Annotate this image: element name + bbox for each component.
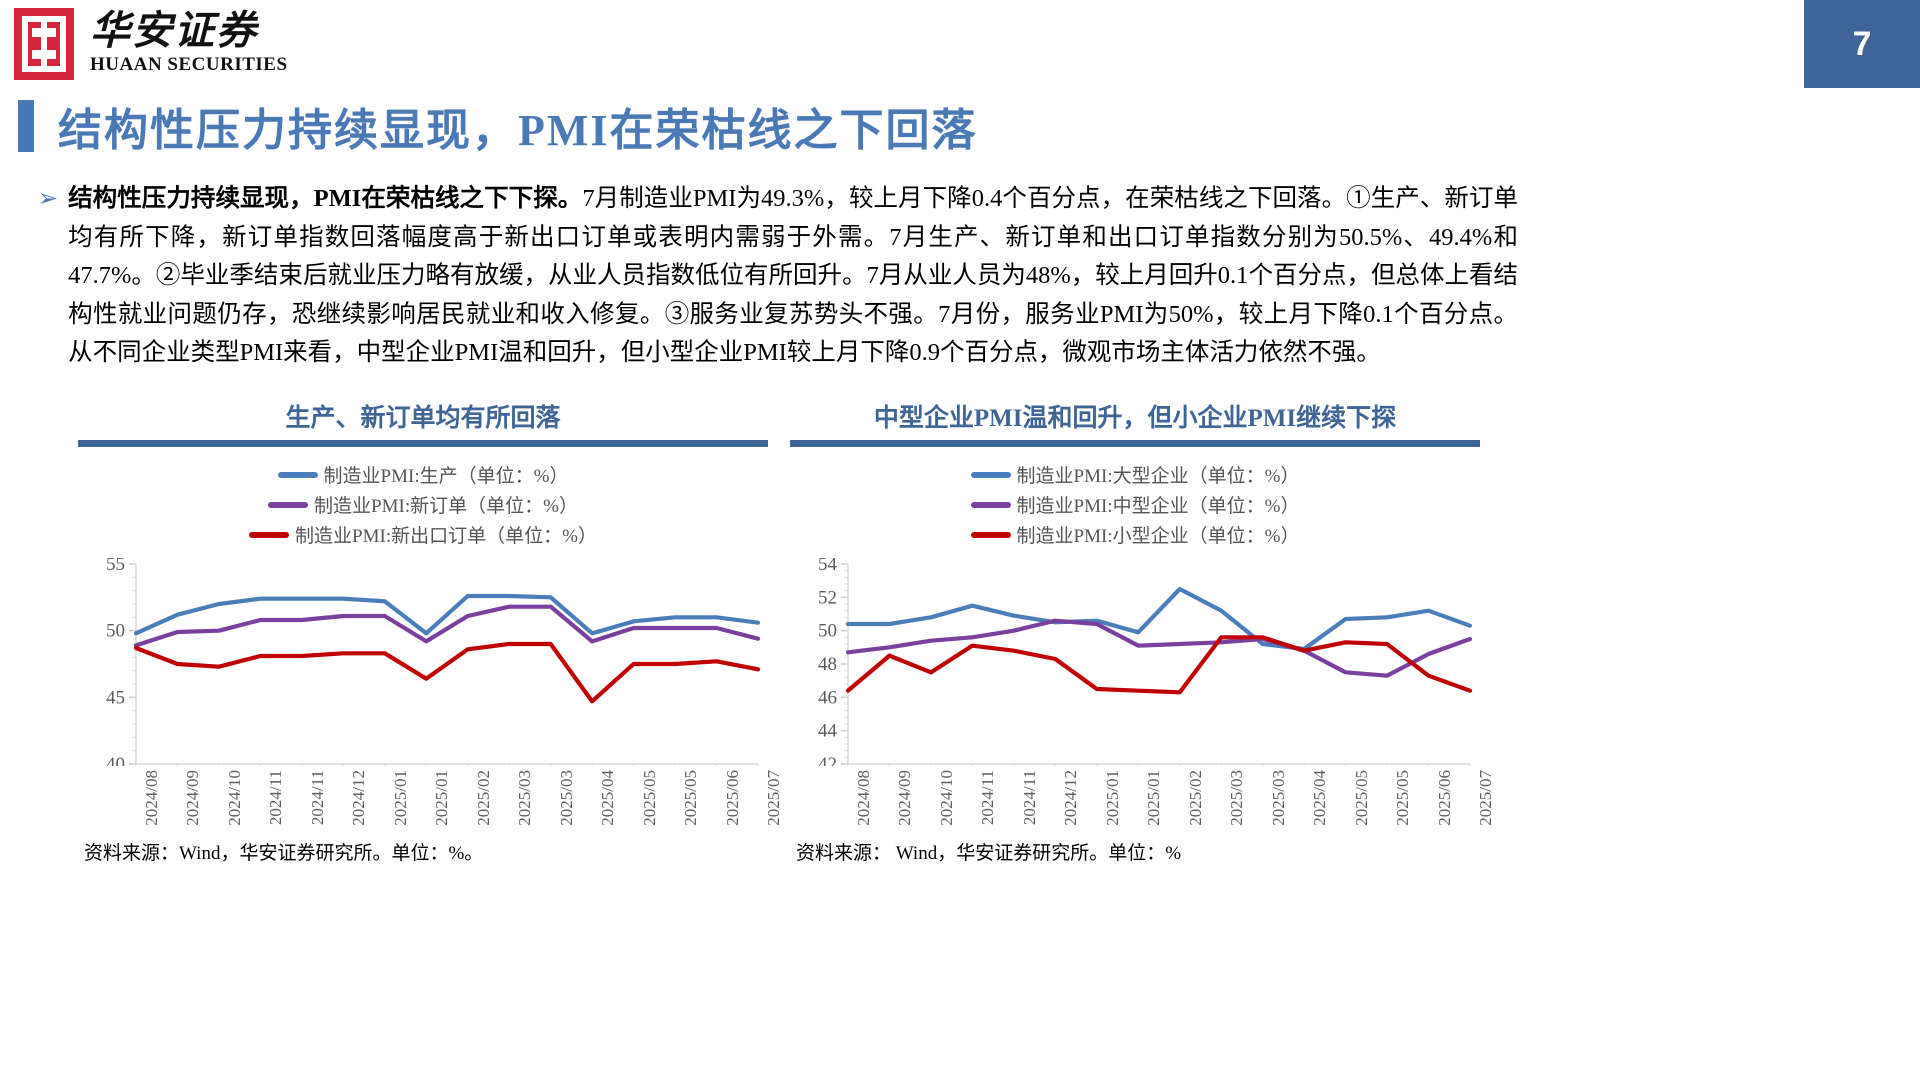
x-axis-label: 2024/09	[895, 770, 915, 826]
x-axis-label: 2025/03	[1269, 770, 1289, 826]
x-axis-label: 2025/05	[681, 770, 701, 826]
legend-label: 制造业PMI:新出口订单（单位：%）	[295, 521, 597, 548]
x-axis-label: 2024/10	[937, 770, 957, 826]
x-axis-label: 2025/01	[391, 770, 411, 826]
svg-text:40: 40	[106, 754, 125, 766]
x-axis-label: 2025/01	[432, 770, 452, 826]
x-axis-label: 2024/09	[183, 770, 203, 826]
x-axis-label: 2025/05	[1352, 770, 1372, 826]
chart-rule-left	[78, 440, 768, 447]
x-axis-label: 2024/12	[1061, 770, 1081, 826]
logo-text-cn: 华安证券	[90, 10, 288, 52]
svg-text:52: 52	[818, 587, 837, 608]
x-axis-label: 2025/01	[1103, 770, 1123, 826]
legend-swatch-icon	[971, 532, 1011, 538]
chart-title-left: 生产、新订单均有所回落	[78, 398, 768, 434]
x-axis-label: 2024/12	[349, 770, 369, 826]
logo-mark-icon	[14, 8, 74, 80]
page-number: 7	[1853, 25, 1872, 64]
svg-text:54: 54	[818, 558, 838, 575]
body-paragraph: 结构性压力持续显现，PMI在荣枯线之下下探。7月制造业PMI为49.3%，较上月…	[68, 180, 1518, 373]
x-axis-label: 2025/02	[474, 770, 494, 826]
body-rest-text: 7月制造业PMI为49.3%，较上月下降0.4个百分点，在荣枯线之下回落。①生产…	[68, 185, 1518, 366]
legend-item-left-0[interactable]: 制造业PMI:生产（单位：%）	[278, 461, 569, 488]
svg-text:44: 44	[818, 721, 838, 742]
x-axis-label: 2025/07	[764, 770, 784, 826]
x-axis-label: 2025/05	[1393, 770, 1413, 826]
body-lead-sentence: 结构性压力持续显现，PMI在荣枯线之下下探。	[68, 185, 582, 212]
legend-item-left-2[interactable]: 制造业PMI:新出口订单（单位：%）	[249, 521, 597, 548]
legend-label: 制造业PMI:小型企业（单位：%）	[1017, 521, 1300, 548]
x-axis-label: 2024/08	[142, 770, 162, 826]
chart-plot-right: 42444648505254	[790, 558, 1480, 766]
chart-plot-left: 40455055	[78, 558, 768, 766]
x-axis-label: 2025/03	[515, 770, 535, 826]
legend-item-right-2[interactable]: 制造业PMI:小型企业（单位：%）	[971, 521, 1300, 548]
company-logo: 华安证券 HUAAN SECURITIES	[14, 8, 288, 80]
legend-swatch-icon	[268, 502, 308, 508]
svg-text:45: 45	[106, 687, 125, 708]
chart-panel-right: 中型企业PMI温和回升，但小企业PMI继续下探 制造业PMI:大型企业（单位：%…	[790, 398, 1480, 868]
x-axis-label: 2025/03	[1227, 770, 1247, 826]
x-axis-label: 2024/10	[225, 770, 245, 826]
x-axis-label: 2024/11	[308, 770, 328, 825]
legend-swatch-icon	[971, 502, 1011, 508]
slide-title-row: 结构性压力持续显现，PMI在荣枯线之下回落	[18, 94, 978, 158]
x-axis-label: 2025/06	[723, 770, 743, 826]
legend-label: 制造业PMI:生产（单位：%）	[324, 461, 569, 488]
x-axis-label: 2024/11	[978, 770, 998, 825]
x-axis-label: 2025/04	[1310, 770, 1330, 826]
chart-legend-right: 制造业PMI:大型企业（单位：%）制造业PMI:中型企业（单位：%）制造业PMI…	[790, 461, 1480, 548]
legend-swatch-icon	[278, 472, 318, 478]
x-axis-label: 2024/11	[1020, 770, 1040, 825]
legend-label: 制造业PMI:中型企业（单位：%）	[1017, 491, 1300, 518]
x-axis-label: 2025/06	[1435, 770, 1455, 826]
legend-item-right-1[interactable]: 制造业PMI:中型企业（单位：%）	[971, 491, 1300, 518]
chart-title-right: 中型企业PMI温和回升，但小企业PMI继续下探	[790, 398, 1480, 434]
bullet-arrow-icon: ➢	[38, 180, 58, 373]
legend-label: 制造业PMI:大型企业（单位：%）	[1017, 461, 1300, 488]
legend-label: 制造业PMI:新订单（单位：%）	[314, 491, 578, 518]
title-accent-bar	[18, 100, 34, 152]
chart-panel-left: 生产、新订单均有所回落 制造业PMI:生产（单位：%）制造业PMI:新订单（单位…	[78, 398, 768, 868]
svg-text:55: 55	[106, 558, 125, 575]
legend-item-right-0[interactable]: 制造业PMI:大型企业（单位：%）	[971, 461, 1300, 488]
body-paragraph-block: ➢ 结构性压力持续显现，PMI在荣枯线之下下探。7月制造业PMI为49.3%，较…	[38, 180, 1518, 373]
x-axis-label: 2024/08	[854, 770, 874, 826]
x-axis-label: 2024/11	[266, 770, 286, 825]
chart-source-left: 资料来源：Wind，华安证券研究所。单位：%。	[84, 838, 483, 865]
svg-text:46: 46	[818, 687, 837, 708]
svg-text:50: 50	[818, 621, 837, 642]
svg-text:42: 42	[818, 754, 837, 766]
svg-text:50: 50	[106, 621, 125, 642]
legend-swatch-icon	[249, 532, 289, 538]
chart-legend-left: 制造业PMI:生产（单位：%）制造业PMI:新订单（单位：%）制造业PMI:新出…	[78, 461, 768, 548]
chart-source-right: 资料来源： Wind，华安证券研究所。单位：%	[796, 838, 1181, 865]
series-line-2	[136, 644, 758, 701]
x-axis-label: 2025/05	[640, 770, 660, 826]
logo-text-en: HUAAN SECURITIES	[90, 54, 288, 76]
chart-rule-right	[790, 440, 1480, 447]
page-title: 结构性压力持续显现，PMI在荣枯线之下回落	[58, 94, 978, 158]
legend-swatch-icon	[971, 472, 1011, 478]
legend-item-left-1[interactable]: 制造业PMI:新订单（单位：%）	[268, 491, 578, 518]
x-axis-label: 2025/01	[1144, 770, 1164, 826]
svg-text:48: 48	[818, 654, 837, 675]
x-axis-label: 2025/04	[598, 770, 618, 826]
x-axis-label: 2025/07	[1476, 770, 1496, 826]
page-number-badge: 7	[1804, 0, 1920, 88]
x-axis-label: 2025/03	[557, 770, 577, 826]
x-axis-label: 2025/02	[1186, 770, 1206, 826]
